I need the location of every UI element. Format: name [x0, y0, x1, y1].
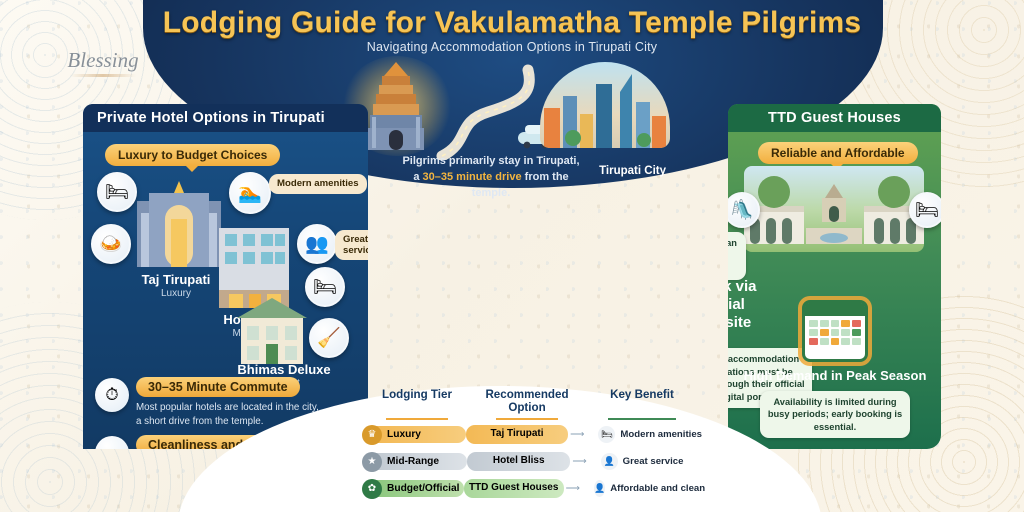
benefit-cell-0: 🛏 Modern amenities — [586, 426, 702, 443]
ttd-heading: TTD Guest Houses — [728, 104, 941, 132]
benefit-label-1: Great service — [623, 456, 684, 467]
service-icon-benefit: 👤 — [601, 453, 618, 470]
comparison-table-header: Lodging Tier Recommended Option Key Bene… — [362, 388, 702, 423]
hotel-name-0-text: Taj Tirupati — [142, 272, 211, 287]
reliable-affordable-pill: Reliable and Affordable — [758, 142, 918, 164]
luxury-budget-pill: Luxury to Budget Choices — [105, 144, 280, 166]
calendar-header — [805, 303, 865, 316]
comparison-table: Lodging Tier Recommended Option Key Bene… — [362, 388, 702, 504]
benefit-cell-2: 👤 Affordable and clean — [582, 480, 702, 497]
hotel-name-2-text: Bhimas Deluxe — [237, 362, 330, 377]
brand-watermark-text: Blessing — [67, 48, 138, 72]
column-header-tier: Lodging Tier — [362, 388, 472, 423]
bed-icon-2: 🛏 — [305, 267, 345, 307]
brand-watermark: Blessing — [48, 48, 158, 77]
stopwatch-icon: ⏱ — [95, 378, 129, 412]
dining-plate-icon: 🍛 — [91, 224, 131, 264]
option-cell-1: Hotel Bliss — [467, 452, 570, 471]
option-cell-2: TTD Guest Houses — [464, 479, 564, 498]
table-row: ★ Mid-Range Hotel Bliss ⟶ 👤 Great servic… — [362, 450, 702, 473]
clean-bed-icon: 🛌 — [95, 436, 129, 449]
reliable-affordable-pill-label: Reliable and Affordable — [758, 142, 918, 164]
star-icon: ★ — [362, 452, 382, 472]
benefit-cell-1: 👤 Great service — [589, 453, 702, 470]
tier-label-2: Budget/Official — [375, 480, 464, 497]
page-title: Lodging Guide for Vakulamatha Temple Pil… — [0, 6, 1024, 40]
tier-label-0: Luxury — [375, 426, 466, 443]
benefit-label-0: Modern amenities — [620, 429, 702, 440]
bed-icon-ttd: 🛏 — [909, 192, 941, 228]
table-row: ✿ Budget/Official TTD Guest Houses ⟶ 👤 A… — [362, 477, 702, 500]
callout-great-service-label: Great service — [343, 234, 368, 256]
table-row: ♛ Luxury Taj Tirupati ⟶ 🛏 Modern ameniti… — [362, 423, 702, 446]
calendar-grid — [805, 316, 865, 349]
high-demand-note: Availability is limited during busy peri… — [760, 391, 910, 439]
shield-icon: ✿ — [362, 479, 382, 499]
callout-great-service: Great service — [335, 230, 368, 260]
infographic-canvas: Lodging Guide for Vakulamatha Temple Pil… — [0, 0, 1024, 512]
benefit-label-2: Affordable and clean — [610, 483, 705, 494]
option-cell-0: Taj Tirupati — [466, 425, 568, 444]
tier-label-1: Mid-Range — [375, 453, 467, 470]
private-hotels-heading: Private Hotel Options in Tirupati — [83, 104, 368, 132]
tier-cell-0: ♛ Luxury — [362, 425, 466, 445]
arrow-icon: ⟶ — [570, 429, 584, 440]
private-hotels-panel: Private Hotel Options in Tirupati Luxury… — [83, 104, 368, 449]
high-demand-block: High Demand in Peak Season Availability … — [736, 300, 934, 438]
staff-service-icon: 👥 — [297, 224, 337, 264]
temple-gopuram-icon — [360, 60, 432, 152]
luxury-budget-pill-label: Luxury to Budget Choices — [105, 144, 280, 166]
calendar-clock-icon — [802, 300, 868, 362]
tier-cell-2: ✿ Budget/Official — [362, 479, 464, 499]
journey-caption: Pilgrims primarily stay in Tirupati, a 3… — [398, 154, 584, 202]
ttd-guest-houses-panel: TTD Guest Houses Reliable and Affordable — [728, 104, 941, 449]
callout-modern-amenities: Modern amenities — [269, 174, 367, 194]
brand-watermark-rule — [70, 74, 136, 77]
arrow-icon: ⟶ — [566, 483, 580, 494]
column-header-option: Recommended Option — [472, 388, 582, 423]
service-icon-benefit-2: 👤 — [594, 480, 605, 497]
city-label: Tirupati City — [599, 165, 666, 177]
bed-icon-benefit: 🛏 — [598, 426, 615, 443]
guest-house-courtyard-icon — [744, 166, 924, 252]
crown-icon: ♛ — [362, 425, 382, 445]
column-header-benefit: Key Benefit — [582, 388, 702, 423]
callout-modern-amenities-label: Modern amenities — [277, 178, 359, 189]
arrow-icon: ⟶ — [572, 456, 586, 467]
bed-icon: 🛏 — [97, 172, 137, 212]
swimming-pool-icon: 🏊 — [229, 172, 271, 214]
tagline-commute-title: 30–35 Minute Commute — [136, 377, 300, 397]
high-demand-title: High Demand in Peak Season — [736, 368, 934, 384]
journey-scene: Tirupati City — [330, 58, 670, 163]
bhimas-deluxe-building-icon — [233, 296, 311, 366]
taj-tirupati-building-icon — [131, 179, 227, 271]
tier-cell-1: ★ Mid-Range — [362, 452, 467, 472]
caption-highlight: 30–35 minute drive — [423, 171, 522, 183]
note-affordable-clean: Affordable and clean alternative for pil… — [728, 232, 746, 280]
cleaning-broom-icon: 🧹 — [309, 318, 349, 358]
